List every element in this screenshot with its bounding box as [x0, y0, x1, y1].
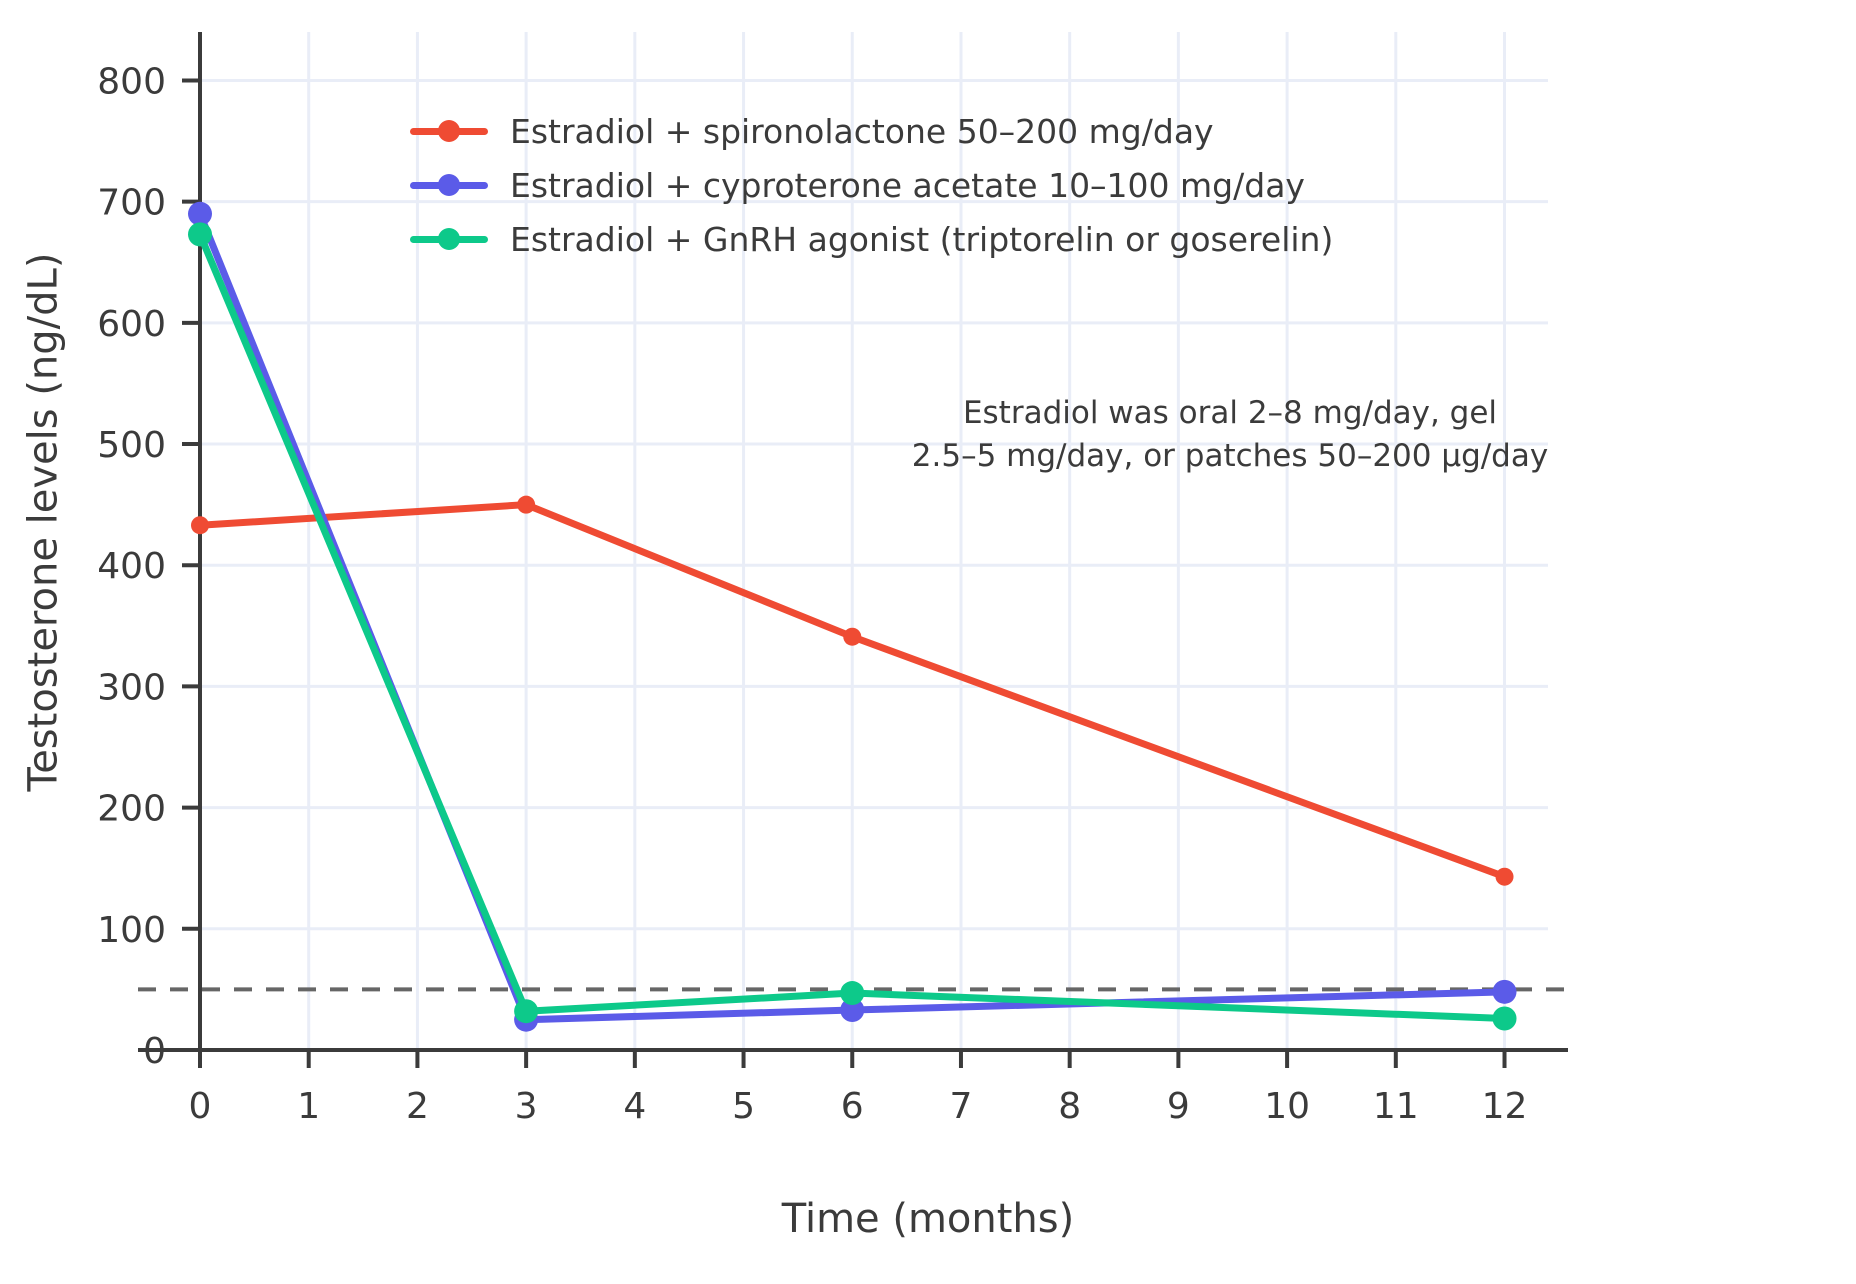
data-point-series2[interactable]: [188, 222, 212, 246]
x-tick-label: 4: [623, 1086, 646, 1127]
x-tick-label: 3: [515, 1086, 538, 1127]
y-tick-label: 100: [97, 910, 166, 951]
data-point-series2[interactable]: [840, 981, 864, 1005]
x-tick-label: 0: [189, 1086, 212, 1127]
y-tick-label: 200: [97, 789, 166, 830]
x-tick-label: 8: [1058, 1086, 1081, 1127]
x-tick-label: 11: [1373, 1086, 1419, 1127]
data-point-series1[interactable]: [188, 202, 212, 226]
legend-item-gnrh[interactable]: Estradiol + GnRH agonist (triptorelin or…: [410, 212, 1350, 266]
data-point-series2[interactable]: [514, 999, 538, 1023]
y-tick-label: 600: [97, 304, 166, 345]
annotation-line-1: Estradiol was oral 2–8 mg/day, gel: [900, 392, 1560, 435]
data-point-series0[interactable]: [843, 628, 861, 646]
legend-label-spironolactone: Estradiol + spironolactone 50–200 mg/day: [510, 112, 1214, 151]
annotation-line-2: 2.5–5 mg/day, or patches 50–200 µg/day: [900, 435, 1560, 478]
annotation-estradiol-dose: Estradiol was oral 2–8 mg/day, gel 2.5–5…: [900, 392, 1560, 478]
legend-item-cyproterone[interactable]: Estradiol + cyproterone acetate 10–100 m…: [410, 158, 1350, 212]
legend-label-cyproterone: Estradiol + cyproterone acetate 10–100 m…: [510, 166, 1305, 205]
data-point-series1[interactable]: [1493, 980, 1517, 1004]
x-tick-label: 12: [1482, 1086, 1528, 1127]
x-tick-label: 10: [1264, 1086, 1310, 1127]
data-point-series0[interactable]: [191, 516, 209, 534]
chart-figure: 0100200300400500600700800012345678910111…: [0, 0, 1856, 1284]
y-tick-label: 400: [97, 546, 166, 587]
y-tick-label: 300: [97, 667, 166, 708]
x-axis-title: Time (months): [0, 1196, 1856, 1242]
legend-swatch-spironolactone: [410, 120, 488, 142]
legend-swatch-cyproterone: [410, 174, 488, 196]
legend-label-gnrh: Estradiol + GnRH agonist (triptorelin or…: [510, 220, 1333, 259]
x-tick-label: 2: [406, 1086, 429, 1127]
x-tick-label: 6: [841, 1086, 864, 1127]
data-point-series0[interactable]: [1496, 868, 1514, 886]
y-tick-label: 0: [143, 1031, 166, 1072]
data-point-series2[interactable]: [1493, 1006, 1517, 1030]
legend-item-spironolactone[interactable]: Estradiol + spironolactone 50–200 mg/day: [410, 104, 1350, 158]
x-tick-label: 9: [1167, 1086, 1190, 1127]
y-tick-label: 500: [97, 425, 166, 466]
x-tick-label: 5: [732, 1086, 755, 1127]
x-tick-label: 1: [297, 1086, 320, 1127]
data-point-series0[interactable]: [517, 496, 535, 514]
x-tick-label: 7: [950, 1086, 973, 1127]
y-tick-label: 800: [97, 61, 166, 102]
legend: Estradiol + spironolactone 50–200 mg/day…: [410, 104, 1350, 266]
legend-swatch-gnrh: [410, 228, 488, 250]
y-tick-label: 700: [97, 183, 166, 224]
